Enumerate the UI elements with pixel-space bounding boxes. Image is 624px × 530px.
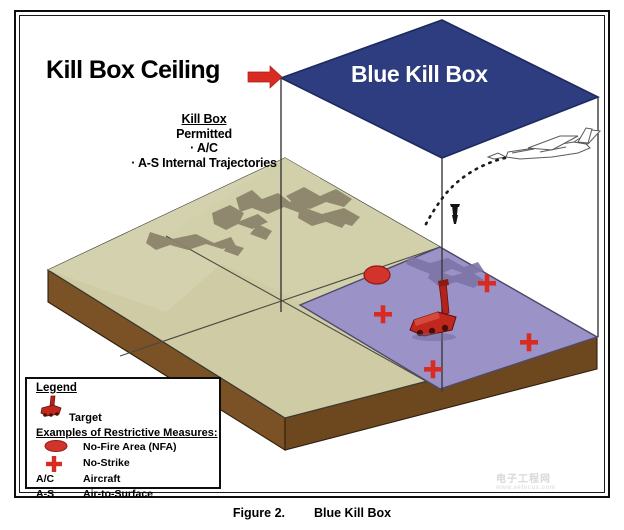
watermark-text: 电子工程网 bbox=[496, 474, 551, 485]
red-right-arrow-icon bbox=[248, 66, 282, 88]
legend-row-label-aircraft: Aircraft bbox=[83, 473, 120, 485]
legend-row-label-air-to-surface: Air-to-Surface bbox=[83, 488, 153, 500]
legend: Legend Target Examples of Restrictive Me… bbox=[25, 377, 221, 489]
air-to-surface-munition-icon bbox=[450, 204, 460, 224]
red-ellipse-icon bbox=[364, 266, 390, 284]
watermark: 电子工程网 www.eefocus.com bbox=[496, 470, 614, 500]
dotted-trajectory-arc-icon bbox=[424, 158, 505, 228]
target-launcher-icon bbox=[38, 395, 66, 419]
red-cross-icon bbox=[44, 454, 64, 474]
figure-caption-title: Blue Kill Box bbox=[314, 506, 391, 520]
kill-box-note-line2: · A/C bbox=[124, 141, 284, 156]
legend-row-key-as: A-S bbox=[36, 488, 54, 500]
watermark-url: www.eefocus.com bbox=[496, 485, 614, 491]
page-title-kill-box-ceiling: Kill Box Ceiling bbox=[46, 56, 220, 85]
kill-box-note-line1: Permitted bbox=[124, 127, 284, 142]
blue-box-face bbox=[281, 20, 598, 158]
legend-title: Legend bbox=[36, 382, 77, 394]
legend-row-key-ac: A/C bbox=[36, 473, 54, 485]
legend-row-label-no-strike: No-Strike bbox=[83, 457, 130, 469]
red-ellipse-icon bbox=[43, 439, 71, 453]
blue-kill-box-label: Blue Kill Box bbox=[351, 61, 488, 88]
kill-box-note-line3: · A-S Internal Trajectories bbox=[124, 156, 284, 171]
legend-subtitle: Examples of Restrictive Measures: bbox=[36, 427, 218, 439]
figure-caption: Figure 2. Blue Kill Box bbox=[0, 506, 624, 520]
legend-target-label: Target bbox=[69, 412, 102, 424]
figure-caption-number: Figure 2. bbox=[233, 506, 285, 520]
kill-box-note: Kill Box Permitted · A/C · A-S Internal … bbox=[124, 112, 284, 170]
figure-page: Kill Box Ceiling Blue Kill Box Kill Box … bbox=[0, 0, 624, 530]
legend-row-label-nfa: No-Fire Area (NFA) bbox=[83, 441, 177, 453]
blue-kill-box-ceiling-plane bbox=[281, 20, 598, 158]
kill-box-note-heading: Kill Box bbox=[124, 112, 284, 127]
